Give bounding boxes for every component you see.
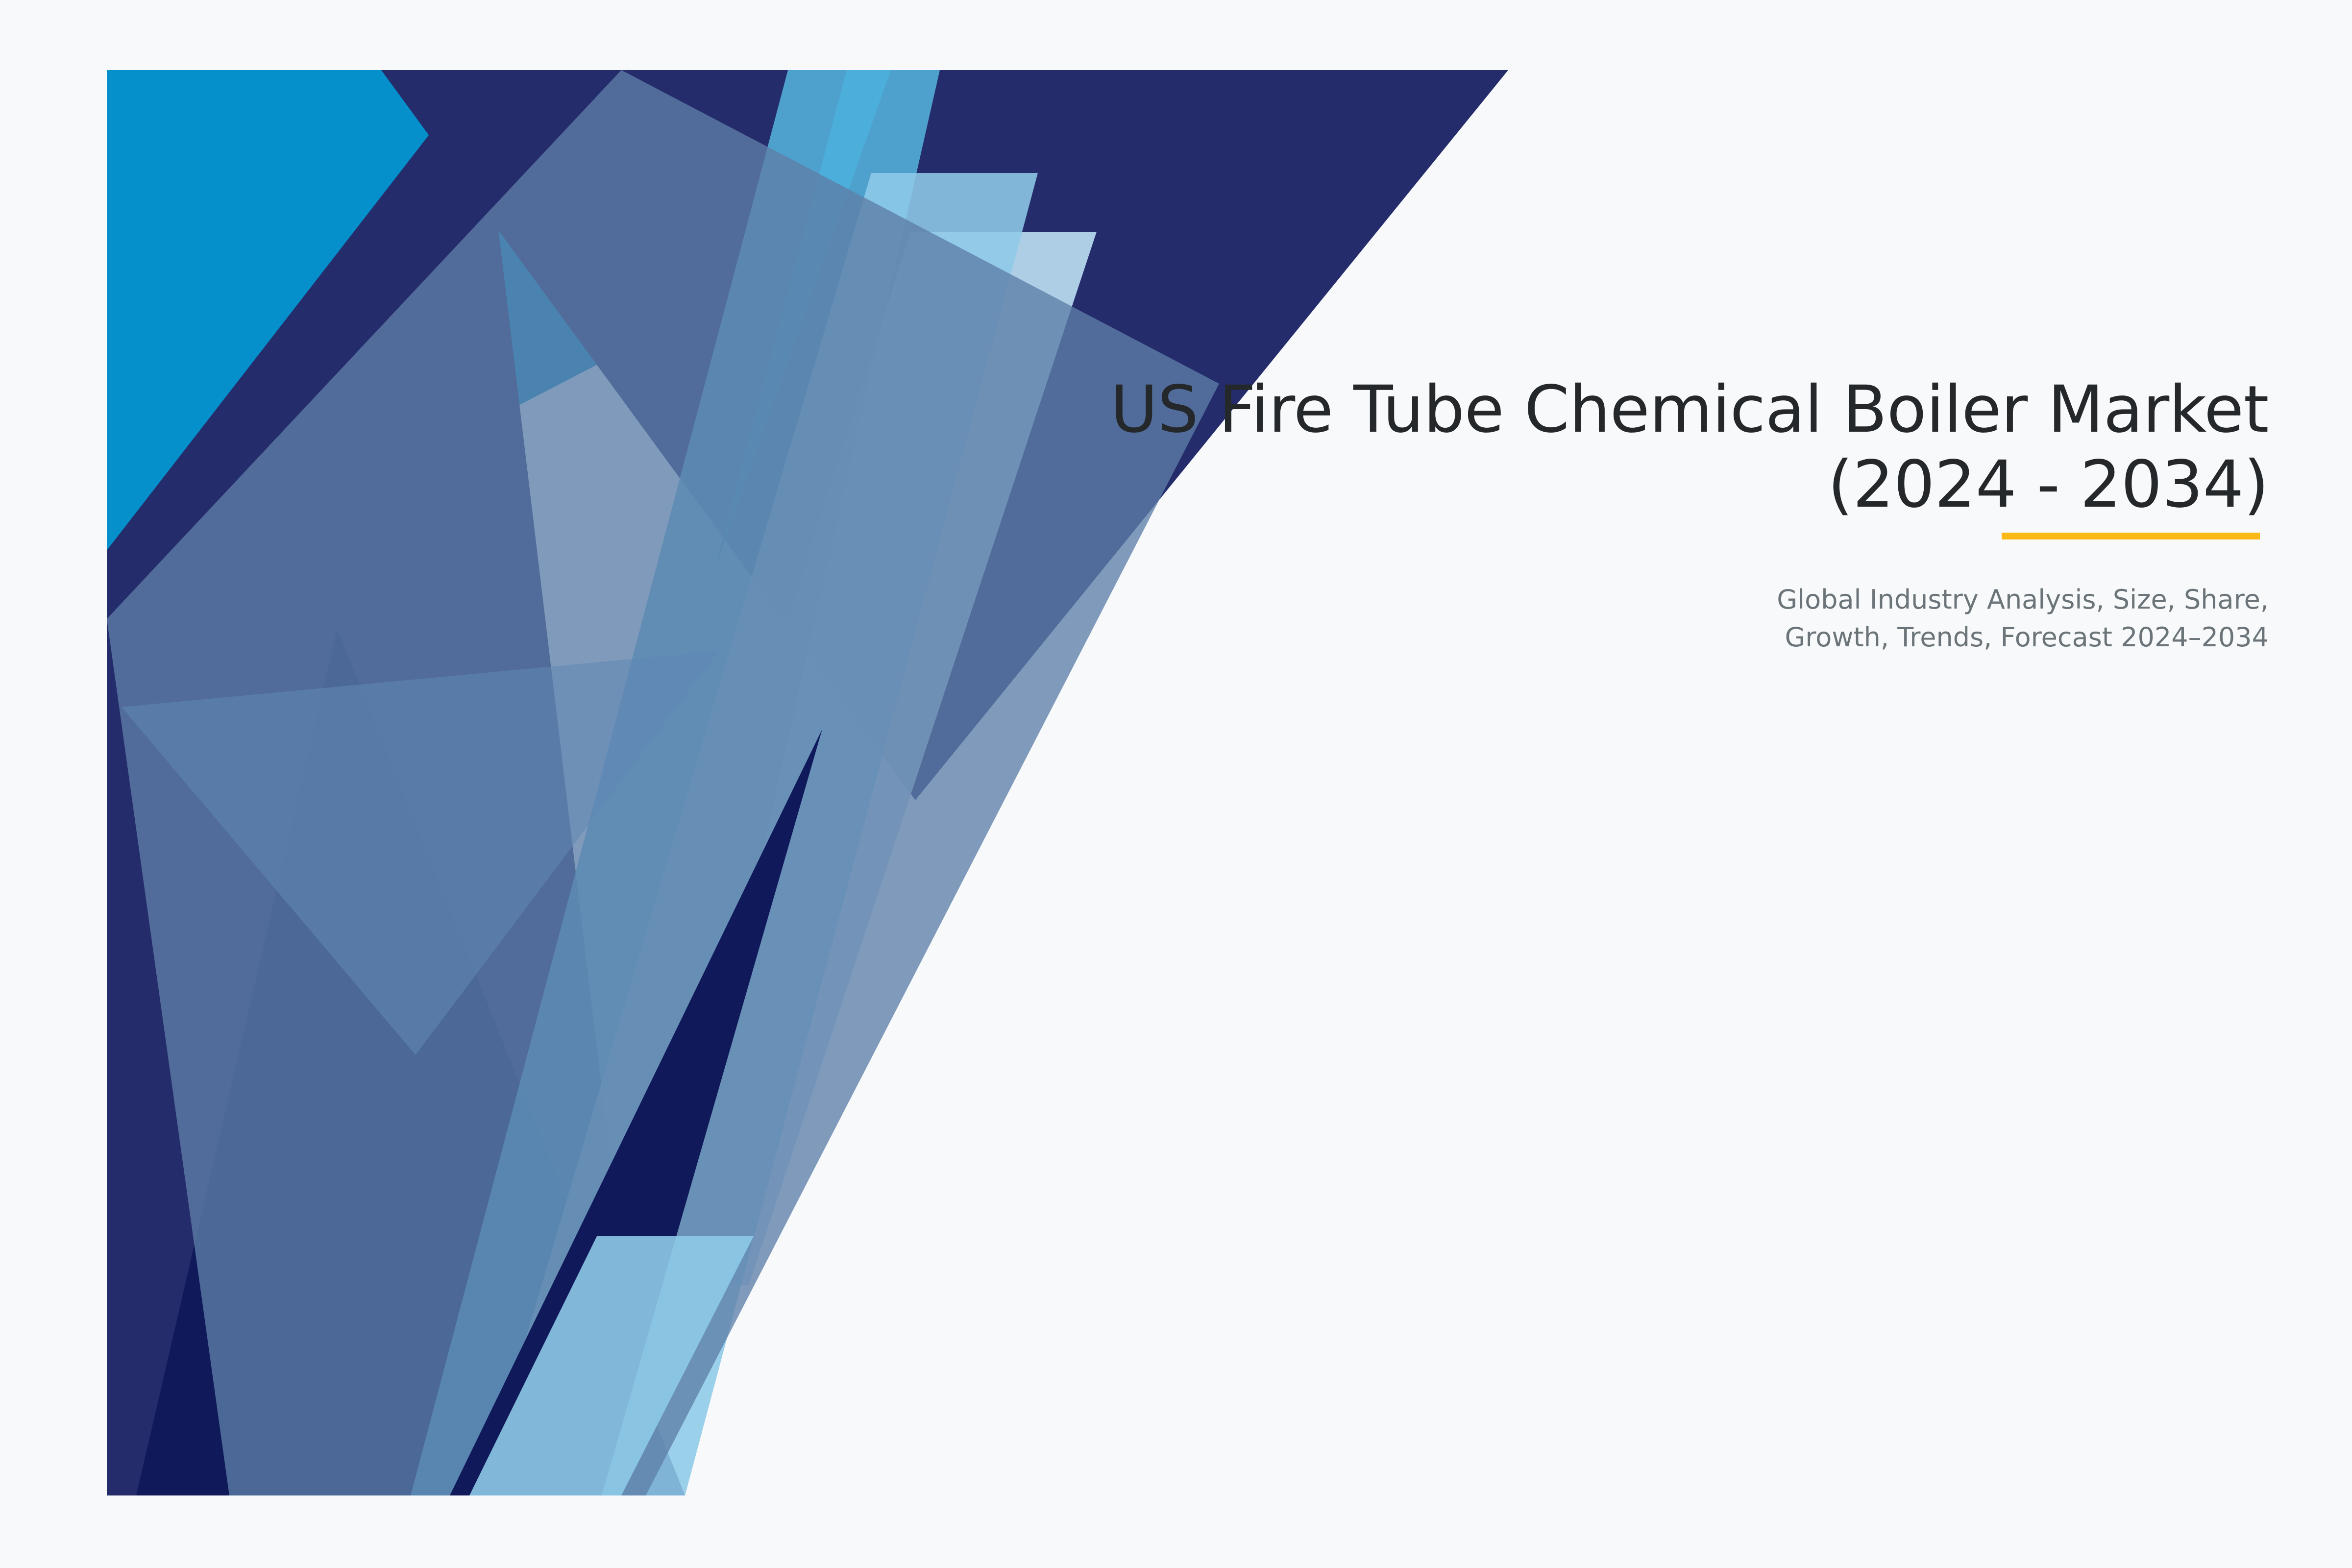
title-accent-underline — [2002, 533, 2260, 539]
cover-artwork-svg — [107, 70, 1508, 1495]
abstract-geometric-cover-graphic — [107, 70, 1508, 1495]
report-cover-page: US Fire Tube Chemical Boiler Market (202… — [0, 0, 2352, 1568]
page-subtitle-line-1: Global Industry Analysis, Size, Share, — [1656, 581, 2269, 619]
page-title-line-2: (2024 - 2034) — [804, 447, 2269, 522]
page-subtitle: Global Industry Analysis, Size, Share, G… — [1656, 522, 2269, 656]
page-subtitle-line-2: Growth, Trends, Forecast 2024–2034 — [1656, 619, 2269, 657]
page-title: US Fire Tube Chemical Boiler Market (202… — [804, 372, 2269, 522]
cover-text-block: US Fire Tube Chemical Boiler Market (202… — [804, 372, 2269, 657]
page-title-line-1: US Fire Tube Chemical Boiler Market — [804, 372, 2269, 447]
